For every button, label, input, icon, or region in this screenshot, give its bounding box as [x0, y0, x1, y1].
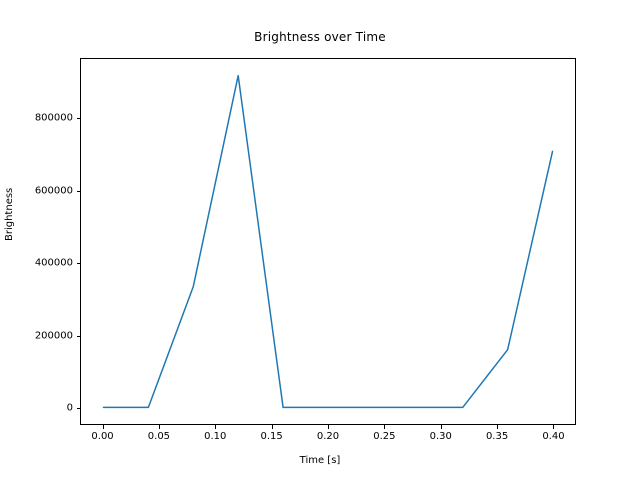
x-tick-label: 0.30 — [430, 431, 452, 442]
data-line-series — [81, 59, 575, 424]
x-tick-mark — [159, 425, 160, 429]
x-tick-label: 0.00 — [91, 431, 113, 442]
x-tick-label: 0.35 — [486, 431, 508, 442]
x-tick-mark — [328, 425, 329, 429]
brightness-line — [103, 76, 552, 408]
x-axis-label: Time [s] — [0, 455, 640, 466]
y-tick-mark — [77, 408, 81, 409]
y-tick-mark — [77, 118, 81, 119]
x-tick-mark — [384, 425, 385, 429]
x-tick-mark — [553, 425, 554, 429]
y-tick-label: 200000 — [0, 330, 73, 341]
x-tick-label: 0.10 — [204, 431, 226, 442]
y-tick-mark — [77, 191, 81, 192]
y-tick-mark — [77, 336, 81, 337]
y-tick-label: 600000 — [0, 185, 73, 196]
figure-canvas: Brightness over Time Brightness Time [s]… — [0, 0, 640, 480]
x-tick-label: 0.15 — [260, 431, 282, 442]
chart-title: Brightness over Time — [0, 30, 640, 44]
x-tick-label: 0.40 — [542, 431, 564, 442]
x-tick-mark — [441, 425, 442, 429]
plot-axes — [80, 58, 576, 425]
x-tick-mark — [103, 425, 104, 429]
x-tick-label: 0.25 — [373, 431, 395, 442]
x-tick-label: 0.05 — [148, 431, 170, 442]
x-tick-label: 0.20 — [317, 431, 339, 442]
x-tick-mark — [497, 425, 498, 429]
y-tick-label: 0 — [0, 403, 73, 414]
y-tick-mark — [77, 263, 81, 264]
x-tick-mark — [215, 425, 216, 429]
x-tick-mark — [272, 425, 273, 429]
y-tick-label: 400000 — [0, 258, 73, 269]
y-tick-label: 800000 — [0, 113, 73, 124]
